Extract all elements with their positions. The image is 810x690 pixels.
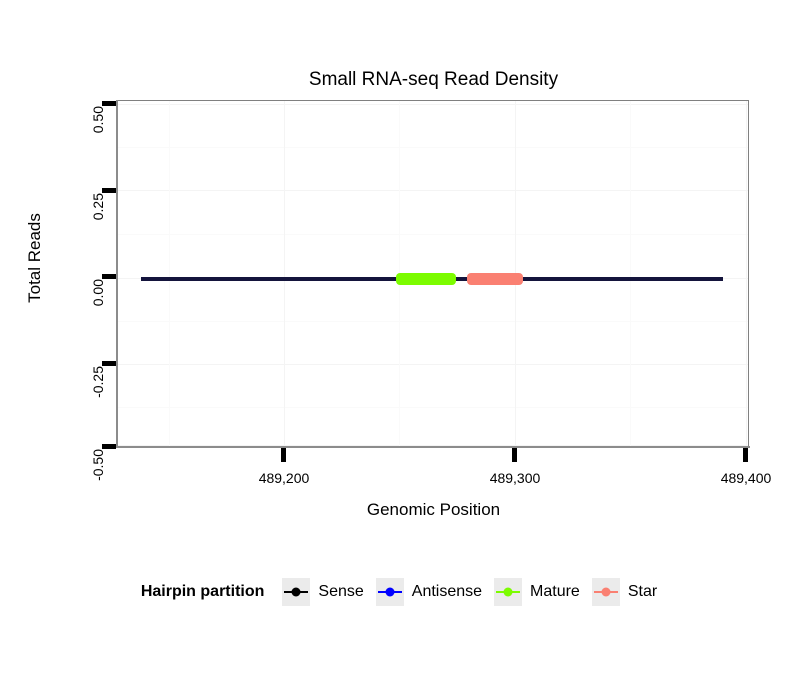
legend-label-mature: Mature [530,583,580,601]
gridline-y-minor-1 [118,147,748,148]
y-axis-title: Total Reads [25,178,45,338]
legend-entry-sense[interactable]: Sense [282,578,363,606]
legend-label-antisense: Antisense [412,583,482,601]
legend: Hairpin partition Sense Antisense Mature… [0,578,810,606]
gridline-y-minor-3 [118,321,748,322]
y-ticklabel-0.00: 0.00 [90,279,106,359]
gridline-y--0.25 [118,364,748,365]
x-axis-title: Genomic Position [117,500,750,520]
x-ticklabel-489200: 489,200 [224,470,344,486]
gridline-x-minor-3 [630,101,631,446]
gridline-x-489200 [284,101,285,446]
series-band-star [467,273,523,285]
legend-title: Hairpin partition [141,583,265,601]
gridline-x-minor-1 [169,101,170,446]
legend-entry-antisense[interactable]: Antisense [376,578,482,606]
legend-key-antisense-icon [376,578,404,606]
legend-key-mature-icon [494,578,522,606]
x-axis-line [116,446,750,448]
x-tick-489400 [743,448,748,462]
gridline-y-0.25 [118,190,748,191]
gridline-x-489400 [746,101,747,446]
legend-label-star: Star [628,583,657,601]
chart-title: Small RNA-seq Read Density [117,68,750,92]
legend-key-star-icon [592,578,620,606]
y-ticklabel--0.50: -0.50 [90,449,106,529]
legend-label-sense: Sense [318,583,363,601]
series-band-mature [396,273,456,285]
x-tick-489200 [281,448,286,462]
x-tick-489300 [512,448,517,462]
y-ticklabel-0.50: 0.50 [90,106,106,186]
gridline-y-minor-2 [118,234,748,235]
gridline-y-minor-4 [118,407,748,408]
legend-key-sense-icon [282,578,310,606]
plot-panel [117,100,749,447]
y-axis-line [116,100,118,448]
legend-entry-mature[interactable]: Mature [494,578,580,606]
x-ticklabel-489300: 489,300 [455,470,575,486]
legend-entry-star[interactable]: Star [592,578,657,606]
gridline-y-0.50 [118,104,748,105]
y-ticklabel--0.25: -0.25 [90,366,106,446]
x-ticklabel-489400: 489,400 [686,470,806,486]
y-ticklabel-0.25: 0.25 [90,193,106,273]
